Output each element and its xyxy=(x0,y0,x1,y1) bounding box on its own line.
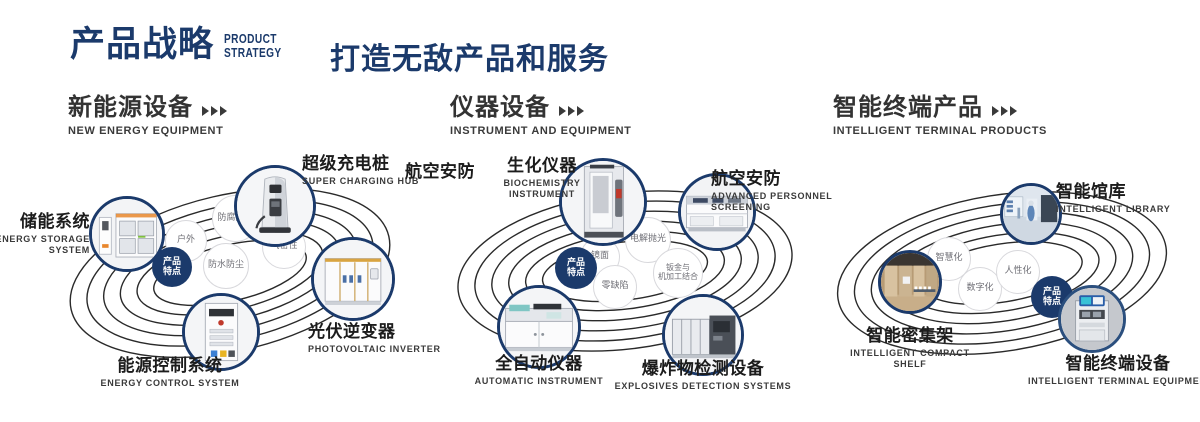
page-title-en-line1: PRODUCT xyxy=(224,32,282,45)
feature-bubble: 钣金与 机加工结合 xyxy=(653,248,703,298)
energy-storage-cabinet-icon xyxy=(92,199,162,269)
caption-en: AUTOMATIC INSTRUMENT xyxy=(449,376,629,387)
product-features-badge: 产品 特点 xyxy=(555,247,597,289)
section-heading-intelligent-terminal: 智能终端产品 INTELLIGENT TERMINAL PRODUCTS xyxy=(833,95,1047,137)
caption-cn: 生化仪器 xyxy=(457,157,627,176)
caption-en: EXPLOSIVES DETECTION SYSTEMS xyxy=(613,381,793,392)
caption-energy-control-system: 能源控制系统 ENERGY CONTROL SYSTEM xyxy=(80,357,260,389)
chevron-right-icon xyxy=(992,106,1017,119)
pv-inverter-cabinet-icon xyxy=(314,240,392,318)
caption-intelligent-terminal-equipment: 智能终端设备 INTELLIGENT TERMINAL EQUIPMENT xyxy=(1028,355,1200,387)
node-intelligent-library[interactable] xyxy=(1000,183,1062,245)
caption-en: INTELLIGENT LIBRARY xyxy=(1056,204,1200,215)
node-intelligent-terminal-equipment[interactable] xyxy=(1058,285,1126,353)
section-heading-new-energy: 新能源设备 NEW ENERGY EQUIPMENT xyxy=(68,95,227,137)
section-title-cn: 仪器设备 xyxy=(450,95,550,119)
section-title-en: INSTRUMENT AND EQUIPMENT xyxy=(450,125,631,137)
section-title-en: INTELLIGENT TERMINAL PRODUCTS xyxy=(833,125,1047,137)
caption-en: ENERGY CONTROL SYSTEM xyxy=(80,378,260,389)
caption-cn: 全自动仪器 xyxy=(449,355,629,374)
section-title-en: NEW ENERGY EQUIPMENT xyxy=(68,125,227,137)
node-intelligent-compact-shelf[interactable] xyxy=(878,250,942,314)
caption-cn: 能源控制系统 xyxy=(80,357,260,376)
caption-cn: 智能密集架 xyxy=(820,327,1000,346)
caption-cn: 智能终端设备 xyxy=(1028,355,1200,374)
cluster-new-energy: 户外 防腐防锈 防水防尘 气密性 产品 特点 储能系统 ENERGY ST xyxy=(40,155,440,385)
cluster-intelligent-terminal: 智慧化 数字化 人性化 产品 特点 智能馆库 INTELLIGENT LIBRA… xyxy=(810,155,1200,395)
compact-shelf-icon xyxy=(881,253,939,311)
caption-cn: 储能系统 xyxy=(0,213,90,232)
page-title-en-line2: STRATEGY xyxy=(224,46,282,59)
cluster-instrument: 镜面 电解抛光 零缺陷 钣金与 机加工结合 产品 特点 航空安防 生化仪器 BI… xyxy=(425,155,825,385)
chevron-right-icon xyxy=(202,106,227,119)
terminal-kiosk-icon xyxy=(1061,288,1123,350)
caption-cn: 爆炸物检测设备 xyxy=(613,360,793,379)
caption-en: ENERGY STORAGE SYSTEM xyxy=(0,234,90,257)
caption-explosives-detection-systems: 爆炸物检测设备 EXPLOSIVES DETECTION SYSTEMS xyxy=(613,360,793,392)
product-strategy-infographic: 产品战略 PRODUCT STRATEGY 打造无敌产品和服务 新能源设备 NE… xyxy=(0,0,1200,422)
page-title-cn: 产品战略 xyxy=(70,28,214,63)
node-energy-storage-system[interactable] xyxy=(89,196,165,272)
page-title-en: PRODUCT STRATEGY xyxy=(224,32,282,59)
section-title-cn: 智能终端产品 xyxy=(833,95,983,119)
caption-en: INTELLIGENT TERMINAL EQUIPMENT xyxy=(1028,376,1200,387)
caption-automatic-instrument: 全自动仪器 AUTOMATIC INSTRUMENT xyxy=(449,355,629,387)
caption-cn: 智能馆库 xyxy=(1056,183,1200,202)
caption-intelligent-compact-shelf: 智能密集架 INTELLIGENT COMPACT SHELF xyxy=(820,327,1000,371)
page-subtitle: 打造无敌产品和服务 xyxy=(330,34,609,78)
library-interior-icon xyxy=(1003,186,1059,242)
feature-bubble: 防水防尘 xyxy=(203,243,249,289)
feature-bubble: 零缺陷 xyxy=(593,265,637,309)
section-heading-instrument: 仪器设备 INSTRUMENT AND EQUIPMENT xyxy=(450,95,631,137)
caption-biochemistry-instrument: 生化仪器 BIOCHEMISTRY INSTRUMENT xyxy=(457,157,627,201)
page-title: 产品战略 PRODUCT STRATEGY xyxy=(70,28,298,63)
node-photovoltaic-inverter[interactable] xyxy=(311,237,395,321)
caption-en: INTELLIGENT COMPACT SHELF xyxy=(820,348,1000,371)
chevron-right-icon xyxy=(559,106,584,119)
caption-en: BIOCHEMISTRY INSTRUMENT xyxy=(457,178,627,201)
caption-energy-storage-system: 储能系统 ENERGY STORAGE SYSTEM xyxy=(0,213,90,257)
section-title-cn: 新能源设备 xyxy=(68,95,193,119)
caption-intelligent-library: 智能馆库 INTELLIGENT LIBRARY xyxy=(1056,183,1200,215)
